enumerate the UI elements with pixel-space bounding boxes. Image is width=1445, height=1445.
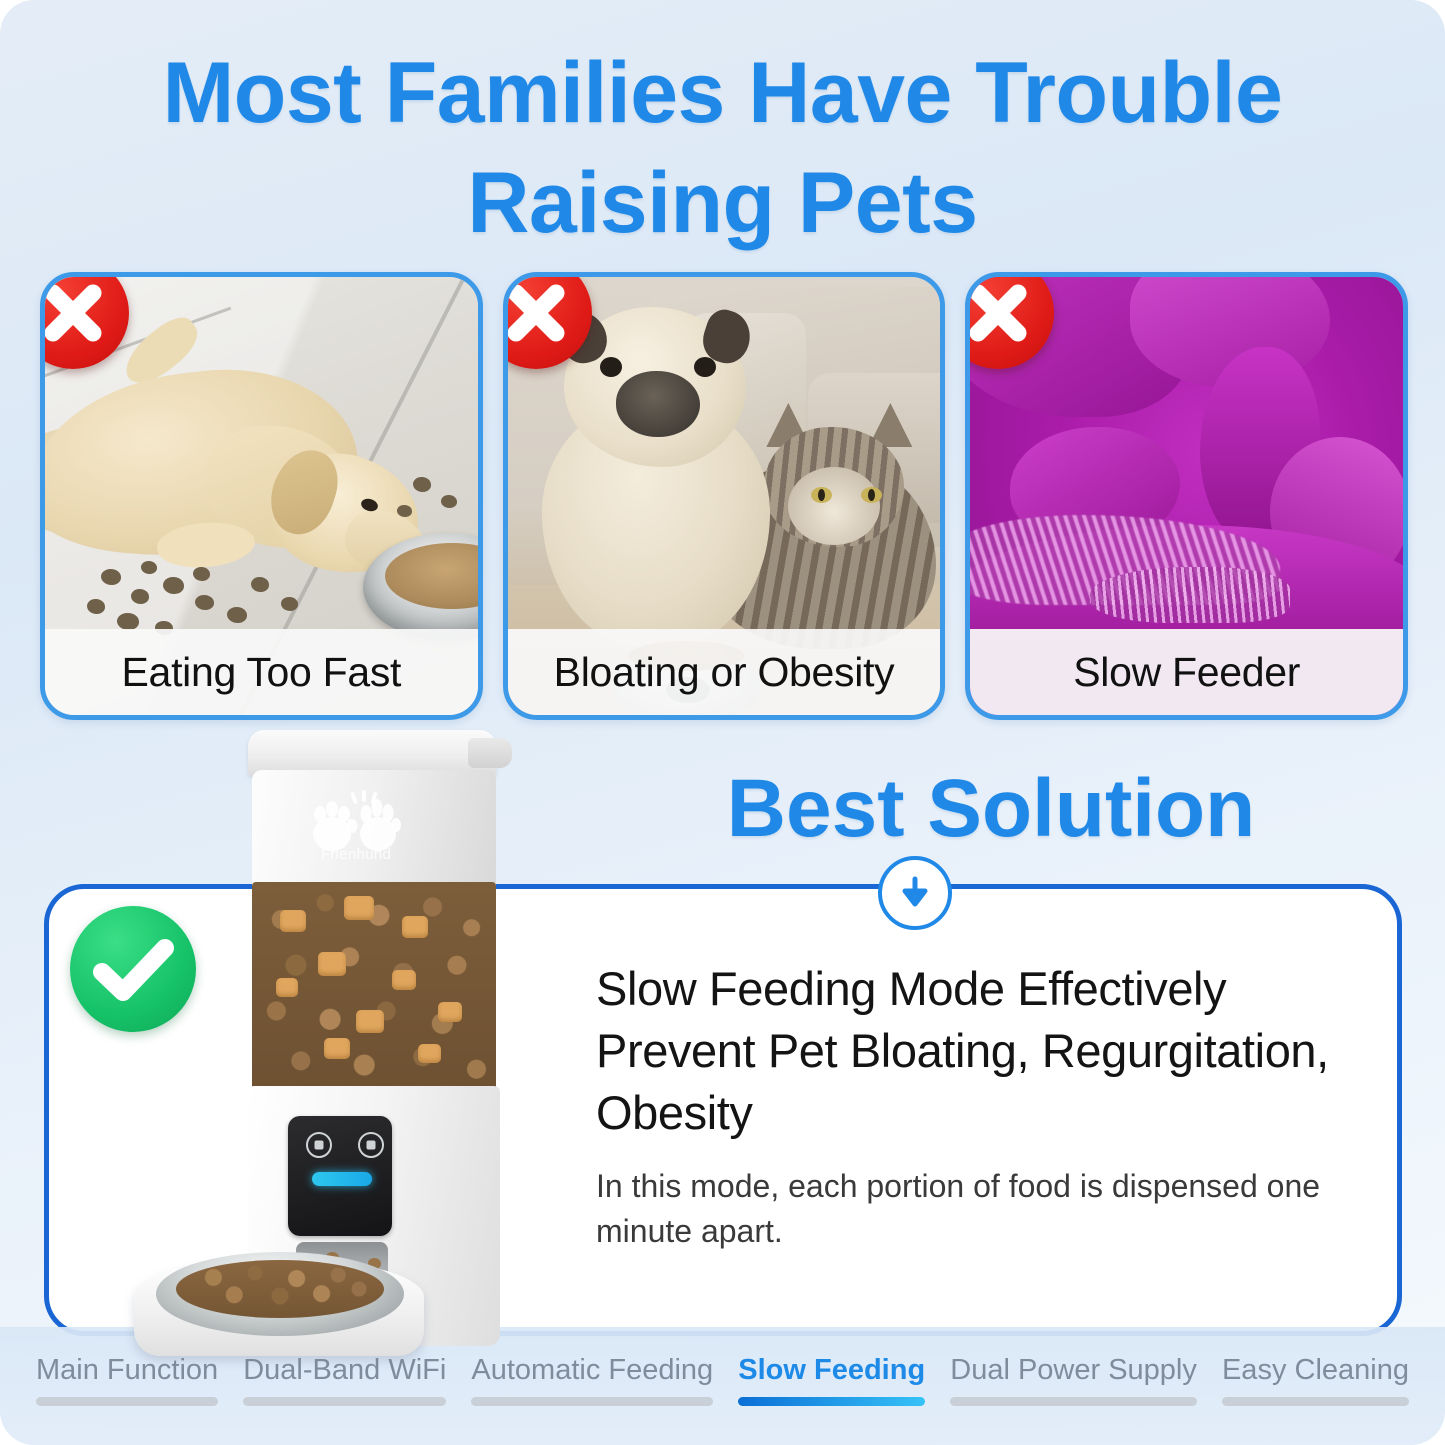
- x-mark-icon: [503, 272, 592, 369]
- tab-label: Main Function: [36, 1354, 218, 1387]
- tab-label: Dual Power Supply: [950, 1354, 1197, 1387]
- feeder-status-led: [312, 1172, 372, 1186]
- tab-underline: [243, 1397, 446, 1406]
- tab-automatic-feeding[interactable]: Automatic Feeding: [471, 1354, 713, 1406]
- tab-slow-feeding[interactable]: Slow Feeding: [738, 1354, 925, 1406]
- feeder-mode-button[interactable]: [306, 1132, 332, 1158]
- arrow-down-icon: [878, 856, 952, 930]
- tab-main-function[interactable]: Main Function: [36, 1354, 218, 1406]
- tab-easy-cleaning[interactable]: Easy Cleaning: [1222, 1354, 1409, 1406]
- tab-label: Dual-Band WiFi: [243, 1354, 446, 1387]
- problem-card-list: Eating Too Fast: [40, 272, 1408, 720]
- tab-dual-power-supply[interactable]: Dual Power Supply: [950, 1354, 1197, 1406]
- problem-card-caption: Eating Too Fast: [45, 629, 478, 715]
- solution-subtext: In this mode, each portion of food is di…: [596, 1164, 1356, 1255]
- problem-card-slow-feeder[interactable]: Slow Feeder: [965, 272, 1408, 720]
- page-title-line1: Most Families Have Trouble: [163, 45, 1283, 141]
- tab-dual-band-wifi[interactable]: Dual-Band WiFi: [243, 1354, 446, 1406]
- infographic-page: Most Families Have Trouble Raising Pets: [0, 0, 1445, 1445]
- tab-label: Slow Feeding: [738, 1354, 925, 1387]
- best-solution-heading: Best Solution: [581, 762, 1401, 856]
- tab-underline: [36, 1397, 218, 1406]
- feeder-food-hopper: [252, 882, 496, 1090]
- tab-label: Easy Cleaning: [1222, 1354, 1409, 1387]
- page-title-line2: Raising Pets: [0, 148, 1445, 258]
- problem-card-bloating-or-obesity[interactable]: Bloating or Obesity: [503, 272, 946, 720]
- problem-card-caption: Bloating or Obesity: [508, 629, 941, 715]
- problem-card-caption: Slow Feeder: [970, 629, 1403, 715]
- page-title: Most Families Have Trouble Raising Pets: [0, 38, 1445, 258]
- problem-card-eating-too-fast[interactable]: Eating Too Fast: [40, 272, 483, 720]
- product-brand-name: Frienhund: [296, 846, 416, 863]
- solution-headline: Slow Feeding Mode Effectively Prevent Pe…: [596, 958, 1386, 1144]
- automatic-pet-feeder-photo: Frienhund: [120, 730, 540, 1340]
- tab-underline: [471, 1397, 713, 1406]
- tab-underline: [950, 1397, 1197, 1406]
- x-mark-icon: [965, 272, 1054, 369]
- tab-label: Automatic Feeding: [471, 1354, 713, 1387]
- tab-underline: [738, 1397, 925, 1406]
- feeder-feed-button[interactable]: [358, 1132, 384, 1158]
- x-mark-icon: [40, 272, 129, 369]
- check-mark-icon: [70, 906, 196, 1032]
- tab-underline: [1222, 1397, 1409, 1406]
